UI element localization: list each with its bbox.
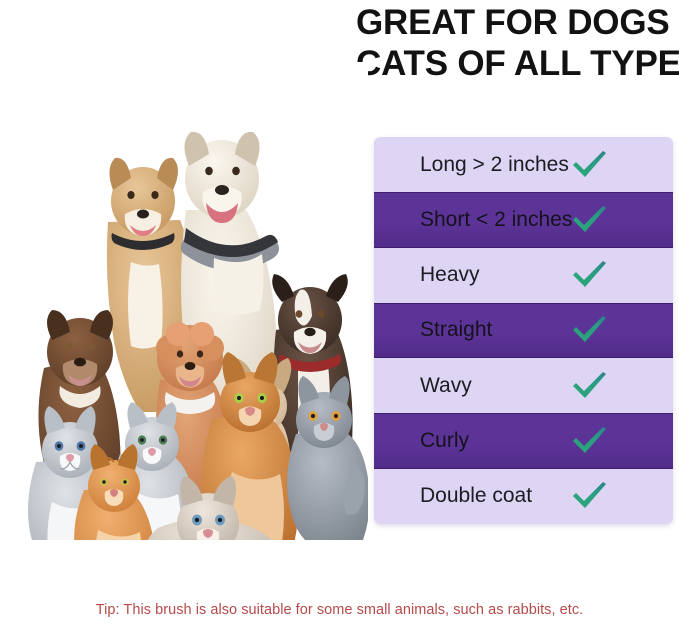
coat-type-table: Long > 2 inches Short < 2 inches — [374, 137, 673, 524]
table-row[interactable]: Heavy — [374, 248, 673, 303]
green-check-icon — [570, 478, 616, 514]
table-row[interactable]: Curly — [374, 413, 673, 468]
table-row[interactable]: Double coat — [374, 469, 673, 524]
coat-type-label: Short < 2 inches — [420, 208, 572, 232]
table-row[interactable]: Long > 2 inches — [374, 137, 673, 192]
green-check-icon — [570, 423, 616, 459]
table-row[interactable]: Wavy — [374, 358, 673, 413]
table-row[interactable]: Short < 2 inches — [374, 192, 673, 247]
coat-type-label: Heavy — [420, 263, 480, 287]
green-check-icon — [570, 202, 616, 238]
page-title-line-2: CATS OF ALL TYPES — [356, 43, 676, 84]
green-check-icon — [570, 368, 616, 404]
product-feature-page: GREAT FOR DOGS & CATS OF ALL TYPES — [0, 0, 679, 627]
table-row[interactable]: Straight — [374, 303, 673, 358]
coat-type-label: Double coat — [420, 484, 532, 508]
page-title: GREAT FOR DOGS & CATS OF ALL TYPES — [356, 2, 676, 84]
green-check-icon — [570, 147, 616, 183]
coat-type-label: Long > 2 inches — [420, 153, 569, 177]
coat-type-label: Straight — [420, 318, 492, 342]
page-title-line-1: GREAT FOR DOGS & — [356, 2, 676, 43]
coat-type-label: Curly — [420, 429, 469, 453]
tip-text: Tip: This brush is also suitable for som… — [0, 600, 679, 620]
green-check-icon — [570, 257, 616, 293]
green-check-icon — [570, 312, 616, 348]
coat-type-label: Wavy — [420, 374, 472, 398]
pets-group-photo — [0, 62, 368, 540]
